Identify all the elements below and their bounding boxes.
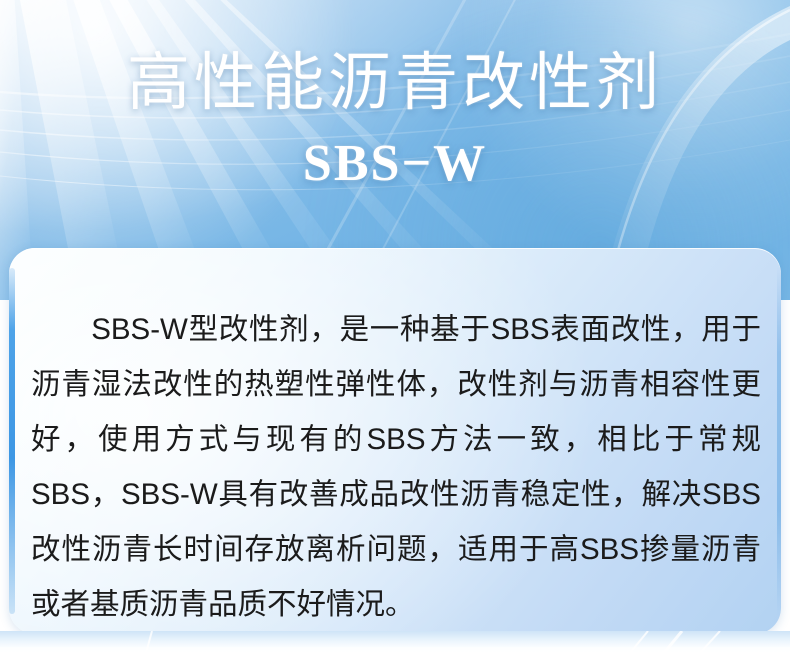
product-description-paragraph: SBS-W型改性剂，是一种基于SBS表面改性，用于沥青湿法改性的热塑性弹性体，改… [31,302,761,632]
card-accent-edge-right [777,266,781,616]
description-card: SBS-W型改性剂，是一种基于SBS表面改性，用于沥青湿法改性的热塑性弹性体，改… [9,248,781,634]
page-title-product-code: SBS−W [0,133,790,195]
footer-streaks-decoration [0,631,790,653]
page-title-chinese: 高性能沥青改性剂 [0,44,790,122]
description-card-wrapper: SBS-W型改性剂，是一种基于SBS表面改性，用于沥青湿法改性的热塑性弹性体，改… [9,248,781,634]
footer-band [0,631,790,653]
product-poster: 高性能沥青改性剂 SBS−W SBS-W型改性剂，是一种基于SBS表面改性，用于… [0,0,790,653]
card-accent-edge-left [9,268,15,614]
